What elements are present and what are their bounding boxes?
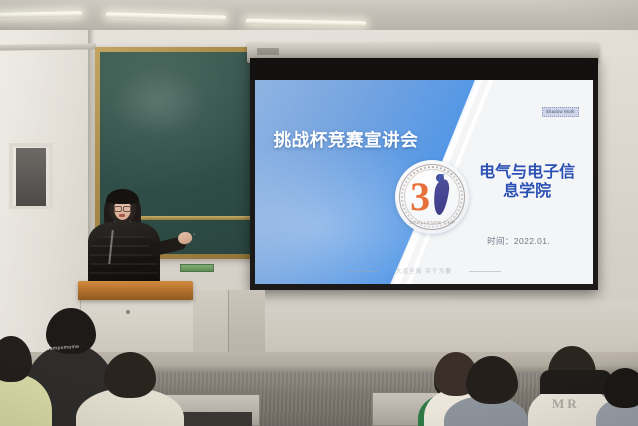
slide-department-name: 电气与电子信 息学院	[465, 164, 590, 202]
screen-top-band	[250, 58, 598, 80]
lecture-hall-photo: 3 t · 挑战杯竞赛宣讲会 3 E	[0, 0, 638, 426]
seal-numeral: 3	[410, 177, 430, 217]
slide-date-label: 时间：2022.01.	[451, 235, 586, 247]
footer-rule-right	[469, 271, 502, 272]
glasses-icon	[114, 206, 122, 212]
podium-wood-top	[78, 281, 193, 300]
slide-watermark: Shadow Moth	[542, 107, 579, 117]
seal-bottom-text: CHALLENGE CUP	[395, 220, 469, 225]
slide-footer-text: 大道至简 实干为要	[350, 267, 499, 275]
footer-rule-left	[347, 271, 380, 272]
chalk-mark: ·	[193, 230, 196, 241]
jacket-tag-text: MR	[552, 396, 580, 412]
audience-head	[104, 352, 156, 398]
glasses-icon	[123, 206, 131, 212]
green-ledge-sign	[180, 264, 214, 272]
speaker-mouth	[119, 214, 125, 217]
chalk-smudge	[110, 68, 206, 137]
podium-body	[80, 299, 193, 359]
doorway	[16, 148, 46, 206]
footer-slogan: 大道至简 实干为要	[396, 269, 452, 275]
podium-knob	[126, 310, 130, 314]
audience-hood	[540, 370, 612, 394]
speaker-jacket-texture	[90, 236, 158, 286]
slide-title: 挑战杯竞赛宣讲会	[274, 127, 419, 152]
presentation-slide: 挑战杯竞赛宣讲会 3 E CHALLENGE CUP 电气与电子信 息学院 时间…	[255, 80, 593, 284]
side-cabinet-panel	[228, 290, 265, 360]
wall-cornice	[0, 43, 96, 50]
seal-initial: E	[437, 172, 444, 184]
screen-brand-logo	[257, 48, 279, 55]
university-seal-logo: 3 E CHALLENGE CUP	[395, 160, 469, 234]
projection-screen: 挑战杯竞赛宣讲会 3 E CHALLENGE CUP 电气与电子信 息学院 时间…	[250, 58, 598, 290]
